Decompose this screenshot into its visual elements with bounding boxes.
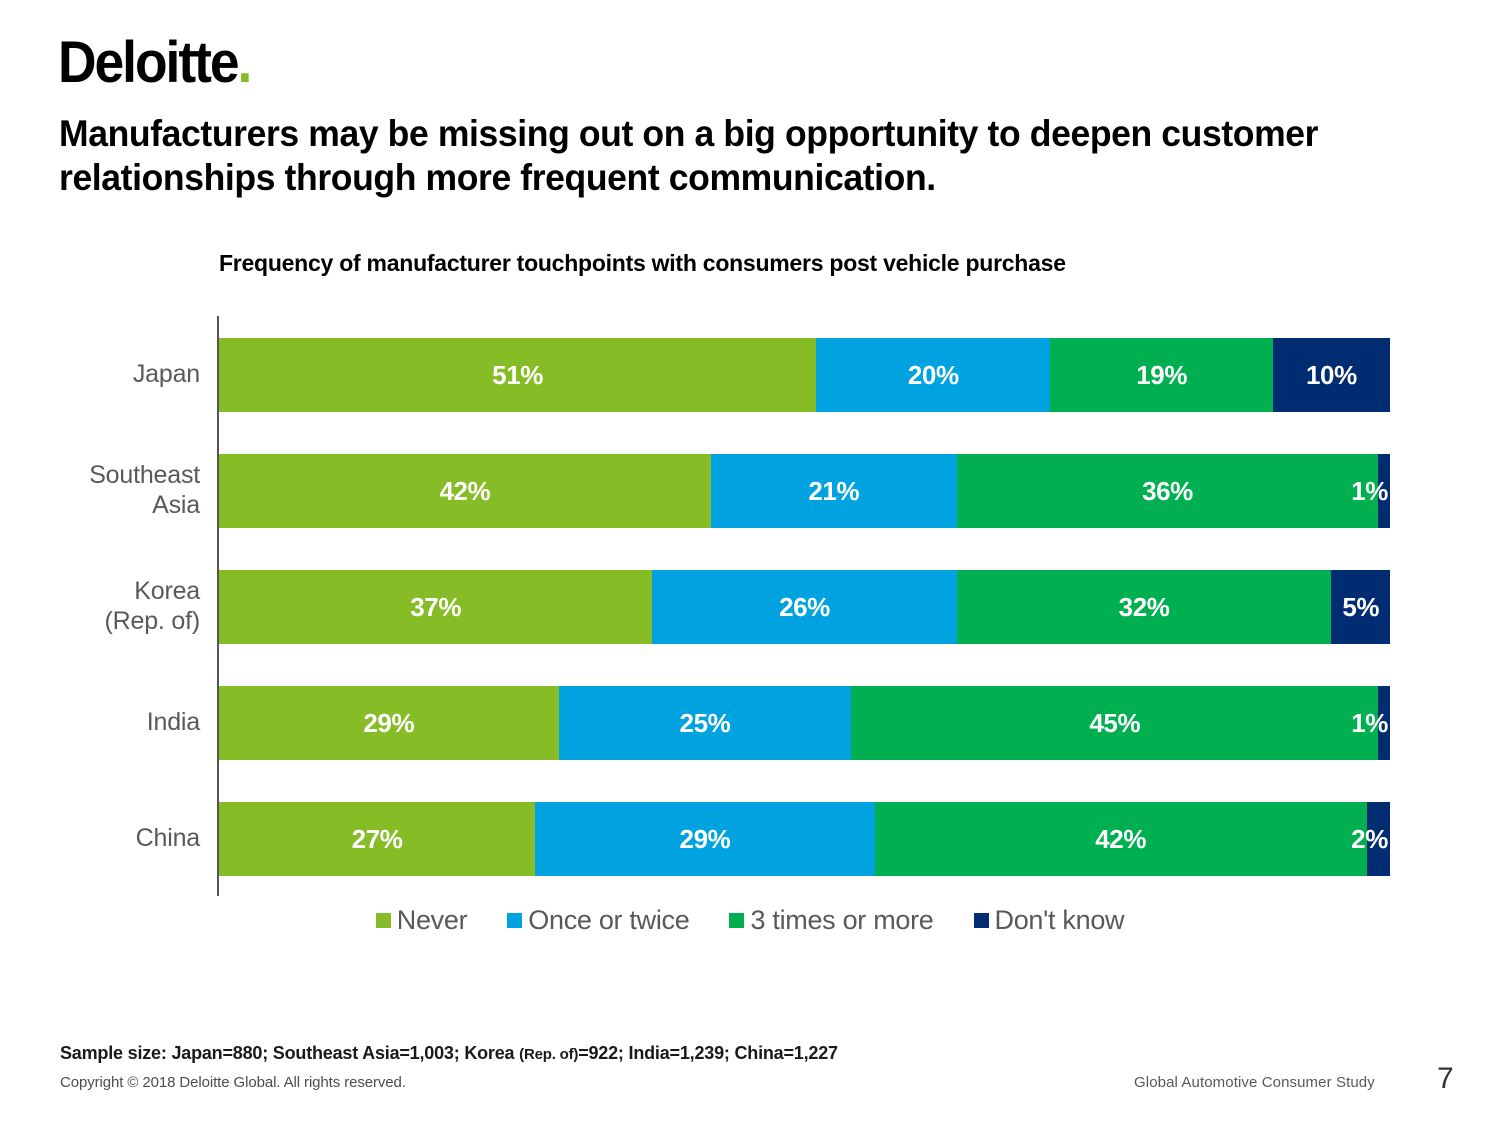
legend-item[interactable]: Don't know (974, 905, 1125, 936)
legend-item[interactable]: 3 times or more (729, 905, 933, 936)
bar-segment: 42% (875, 802, 1367, 876)
page-number: 7 (1437, 1062, 1454, 1096)
bar-segment: 51% (219, 338, 816, 412)
stacked-bar: 42%21%36%1% (219, 454, 1390, 528)
stacked-bar: 37%26%32%5% (219, 570, 1390, 644)
sample-size-prefix: Sample size: Japan=880; Southeast Asia=1… (60, 1043, 519, 1063)
stacked-bar-chart: Japan51%20%19%10%SoutheastAsia42%21%36%1… (0, 316, 1500, 896)
stacked-bar: 51%20%19%10% (219, 338, 1390, 412)
bar-segment: 26% (652, 570, 956, 644)
bar-segment: 25% (559, 686, 852, 760)
bar-segment-value: 19% (1136, 360, 1187, 391)
bar-segment: 21% (711, 454, 957, 528)
bar-segment-value: 2% (1351, 824, 1388, 855)
legend-label: Once or twice (528, 905, 689, 936)
legend-label: Don't know (995, 905, 1125, 936)
bar-segment-value: 37% (410, 592, 461, 623)
chart-rows: Japan51%20%19%10%SoutheastAsia42%21%36%1… (0, 316, 1500, 896)
study-name-label: Global Automotive Consumer Study (1134, 1074, 1375, 1091)
category-label-line: (Rep. of) (105, 606, 200, 637)
category-label-line: Asia (89, 490, 200, 521)
chart-legend: NeverOnce or twice3 times or moreDon't k… (0, 905, 1500, 936)
sample-size-mid: (Rep. of) (519, 1046, 578, 1063)
category-label: China (0, 780, 200, 896)
legend-swatch-icon (507, 913, 522, 928)
bar-segment: 36% (957, 454, 1379, 528)
legend-swatch-icon (974, 913, 989, 928)
legend-item[interactable]: Never (376, 905, 468, 936)
category-label: India (0, 664, 200, 780)
bar-segment-value: 25% (680, 708, 731, 739)
category-label: Korea(Rep. of) (0, 548, 200, 664)
category-label-line: Japan (133, 359, 200, 390)
bar-segment-value: 1% (1351, 476, 1388, 507)
legend-swatch-icon (729, 913, 744, 928)
category-label-line: Korea (105, 576, 200, 607)
chart-title: Frequency of manufacturer touchpoints wi… (219, 250, 1066, 277)
bar-segment-value: 27% (352, 824, 403, 855)
chart-row: India29%25%45%1% (0, 664, 1500, 780)
legend-label: 3 times or more (750, 905, 933, 936)
legend-swatch-icon (376, 913, 391, 928)
bar-segment-value: 5% (1342, 592, 1379, 623)
category-label-line: Southeast (89, 460, 200, 491)
category-label: SoutheastAsia (0, 432, 200, 548)
bar-segment: 1% (1378, 454, 1390, 528)
brand-dot: . (237, 30, 250, 95)
bar-segment: 5% (1331, 570, 1390, 644)
bar-segment-value: 1% (1351, 708, 1388, 739)
bar-segment: 32% (957, 570, 1332, 644)
bar-segment-value: 36% (1142, 476, 1193, 507)
bar-segment-value: 42% (1095, 824, 1146, 855)
chart-row: Korea(Rep. of)37%26%32%5% (0, 548, 1500, 664)
chart-row: SoutheastAsia42%21%36%1% (0, 432, 1500, 548)
page-title: Manufacturers may be missing out on a bi… (59, 112, 1365, 199)
category-label-line: India (147, 707, 200, 738)
legend-label: Never (397, 905, 468, 936)
stacked-bar: 27%29%42%2% (219, 802, 1390, 876)
chart-row: China27%29%42%2% (0, 780, 1500, 896)
bar-segment: 1% (1378, 686, 1390, 760)
bar-segment-value: 20% (908, 360, 959, 391)
bar-segment: 29% (535, 802, 875, 876)
bar-segment-value: 45% (1089, 708, 1140, 739)
bar-segment: 29% (219, 686, 559, 760)
bar-segment-value: 10% (1306, 360, 1357, 391)
category-label-line: China (136, 823, 200, 854)
deloitte-logo: Deloitte. (58, 34, 250, 92)
sample-size-note: Sample size: Japan=880; Southeast Asia=1… (60, 1043, 838, 1064)
brand-name: Deloitte (58, 30, 237, 95)
bar-segment-value: 29% (680, 824, 731, 855)
bar-segment: 45% (851, 686, 1378, 760)
chart-row: Japan51%20%19%10% (0, 316, 1500, 432)
bar-segment-value: 26% (779, 592, 830, 623)
bar-segment: 42% (219, 454, 711, 528)
bar-segment-value: 29% (363, 708, 414, 739)
category-label: Japan (0, 316, 200, 432)
bar-segment: 20% (816, 338, 1050, 412)
sample-size-suffix: =922; India=1,239; China=1,227 (578, 1043, 838, 1063)
stacked-bar: 29%25%45%1% (219, 686, 1390, 760)
copyright-note: Copyright © 2018 Deloitte Global. All ri… (60, 1074, 406, 1091)
bar-segment: 19% (1050, 338, 1272, 412)
legend-item[interactable]: Once or twice (507, 905, 689, 936)
bar-segment-value: 42% (439, 476, 490, 507)
bar-segment: 10% (1273, 338, 1390, 412)
bar-segment-value: 32% (1119, 592, 1170, 623)
bar-segment: 27% (219, 802, 535, 876)
bar-segment-value: 21% (808, 476, 859, 507)
bar-segment-value: 51% (492, 360, 543, 391)
bar-segment: 2% (1367, 802, 1390, 876)
bar-segment: 37% (219, 570, 652, 644)
